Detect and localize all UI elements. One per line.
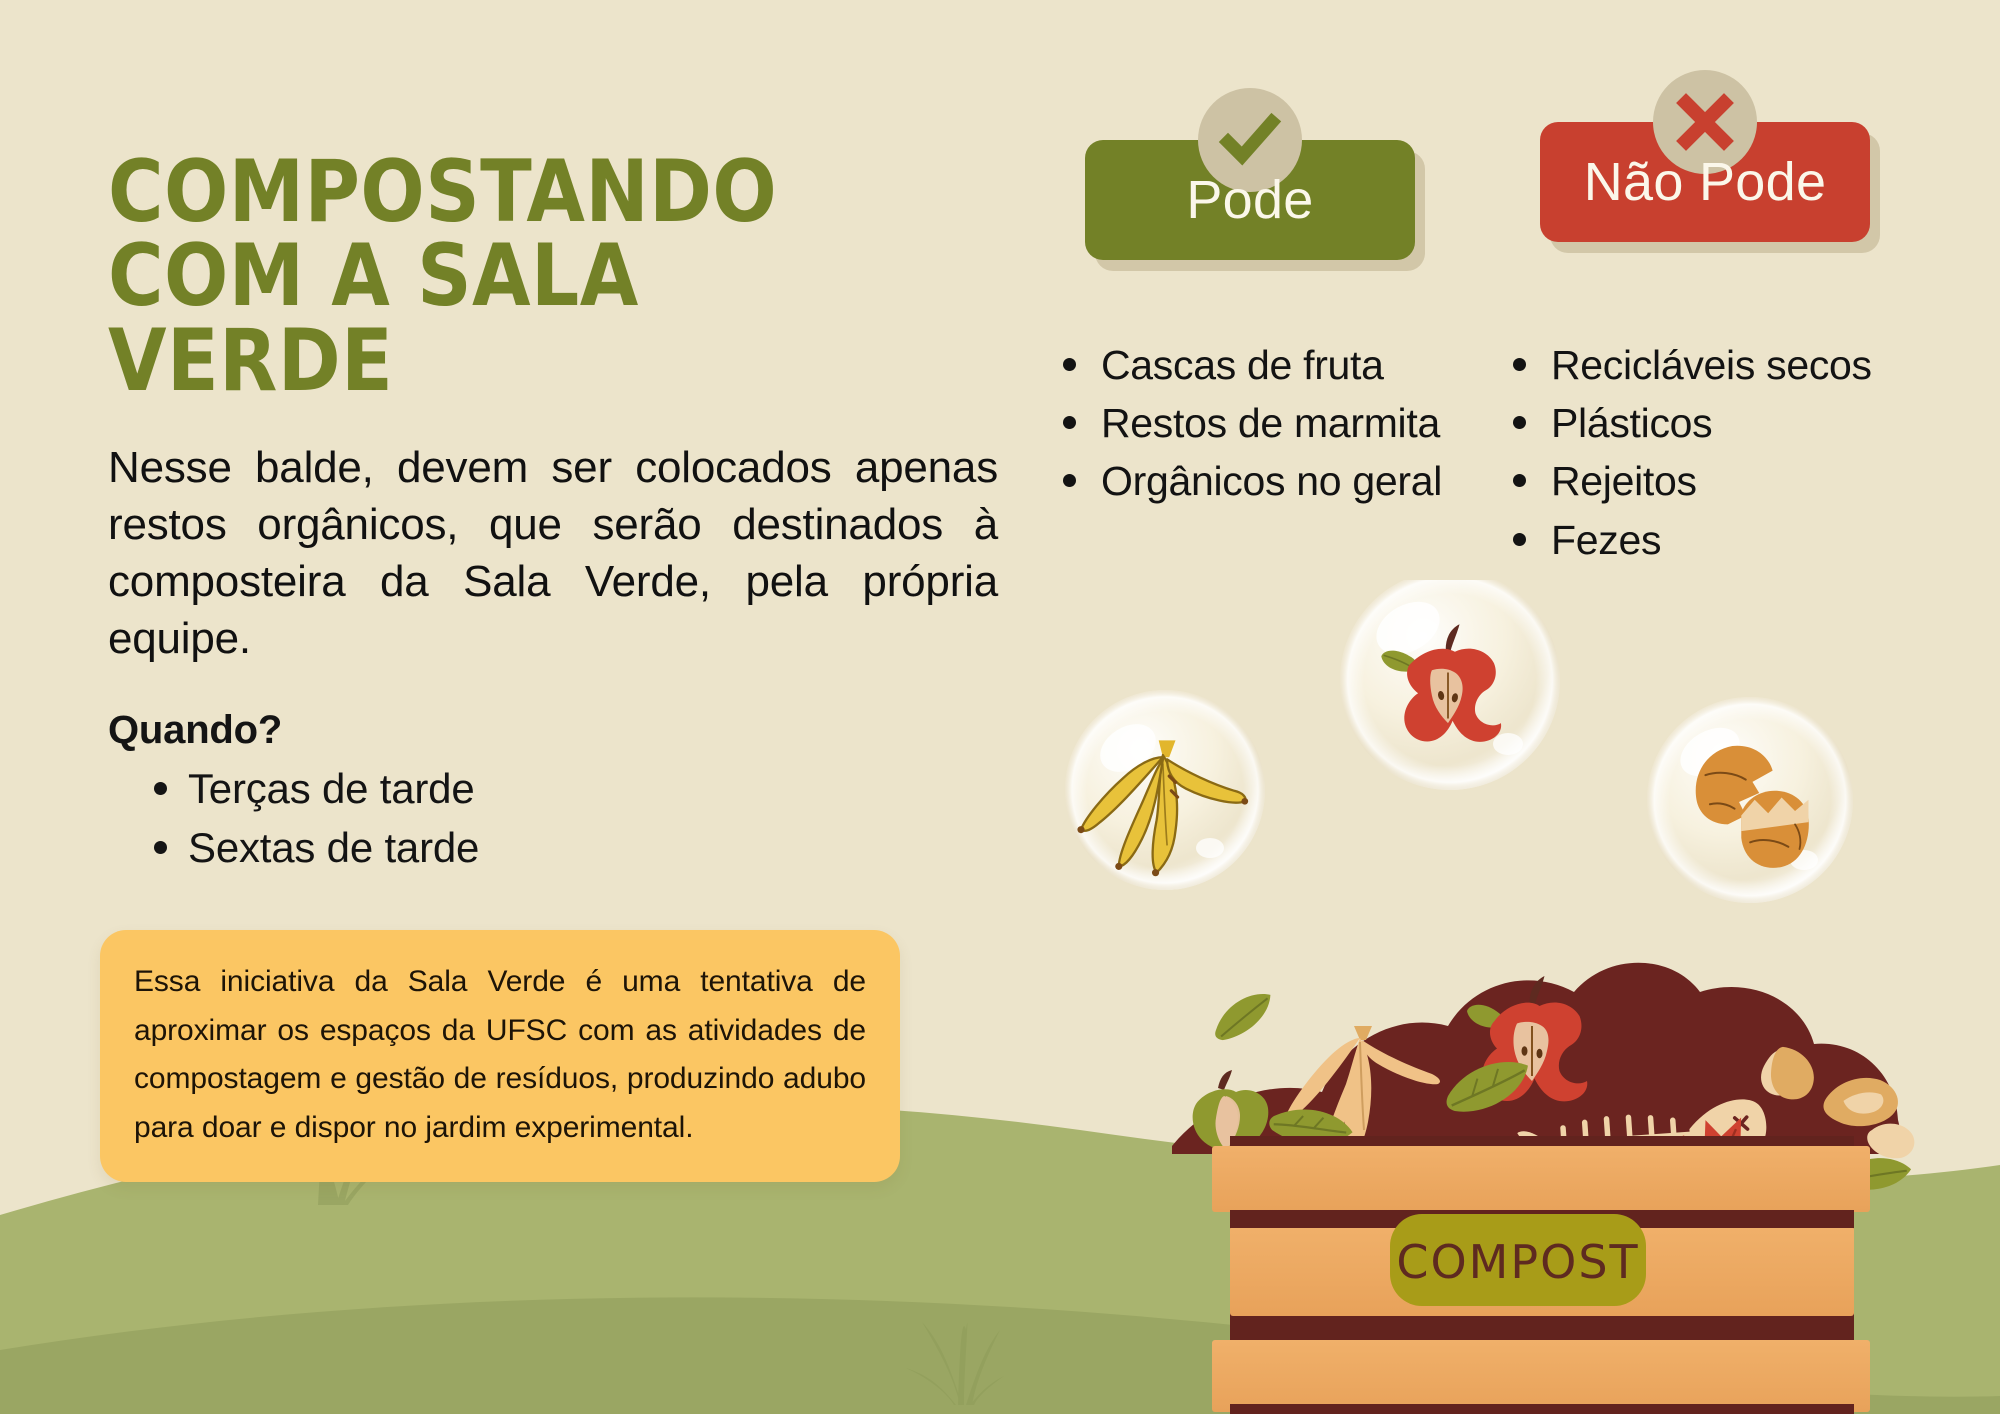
- bubble-apple-core: [1340, 580, 1560, 790]
- callout-text: Essa iniciativa da Sala Verde é uma tent…: [134, 958, 866, 1152]
- crate-slat-1: [1212, 1146, 1870, 1212]
- crate-gap-3: [1230, 1404, 1854, 1414]
- list-item: Cascas de fruta: [1055, 336, 1442, 394]
- allow-badge-label: Pode: [1186, 169, 1313, 231]
- list-item: Rejeitos: [1505, 452, 1872, 510]
- initiative-callout-box: Essa iniciativa da Sala Verde é uma tent…: [100, 930, 900, 1182]
- bubble-eggshell: [1647, 697, 1853, 903]
- deny-badge[interactable]: Não Pode: [1540, 122, 1870, 242]
- leaf-icon-green-3: [1206, 988, 1280, 1044]
- left-content-column: COMPOSTANDO COM A SALA VERDE Nesse balde…: [108, 150, 1018, 878]
- crate-label: COMPOST: [1390, 1214, 1646, 1306]
- when-list: Terças de tarde Sextas de tarde: [108, 759, 1018, 878]
- crate-label-text: COMPOST: [1396, 1235, 1639, 1289]
- list-item: Restos de marmita: [1055, 394, 1442, 452]
- when-heading: Quando?: [108, 708, 1018, 753]
- page-title: COMPOSTANDO COM A SALA VERDE: [108, 150, 909, 403]
- list-item: Plásticos: [1505, 394, 1872, 452]
- list-item: Orgânicos no geral: [1055, 452, 1442, 510]
- deny-badge-wrap: Não Pode: [1540, 122, 1870, 242]
- compost-illustration: COMPOST: [1060, 580, 2000, 1414]
- deny-badge-label: Não Pode: [1584, 151, 1827, 213]
- allow-badge-wrap: Pode: [1085, 140, 1415, 260]
- poster-canvas: COMPOSTANDO COM A SALA VERDE Nesse balde…: [0, 0, 2000, 1414]
- list-item: Fezes: [1505, 511, 1872, 569]
- list-item: Sextas de tarde: [148, 818, 1018, 878]
- allow-list: Cascas de fruta Restos de marmita Orgâni…: [1055, 336, 1442, 511]
- deny-list: Recicláveis secos Plásticos Rejeitos Fez…: [1505, 336, 1872, 569]
- list-item: Recicláveis secos: [1505, 336, 1872, 394]
- list-item: Terças de tarde: [148, 759, 1018, 819]
- bubble-banana-peel: [1065, 690, 1265, 890]
- crate-slat-3: [1212, 1340, 1870, 1412]
- allow-badge[interactable]: Pode: [1085, 140, 1415, 260]
- intro-paragraph: Nesse balde, devem ser colocados apenas …: [108, 439, 998, 668]
- compost-crate: COMPOST: [1212, 1136, 1870, 1414]
- crate-gap-2: [1230, 1316, 1854, 1342]
- title-line-2: COM A SALA VERDE: [108, 234, 909, 403]
